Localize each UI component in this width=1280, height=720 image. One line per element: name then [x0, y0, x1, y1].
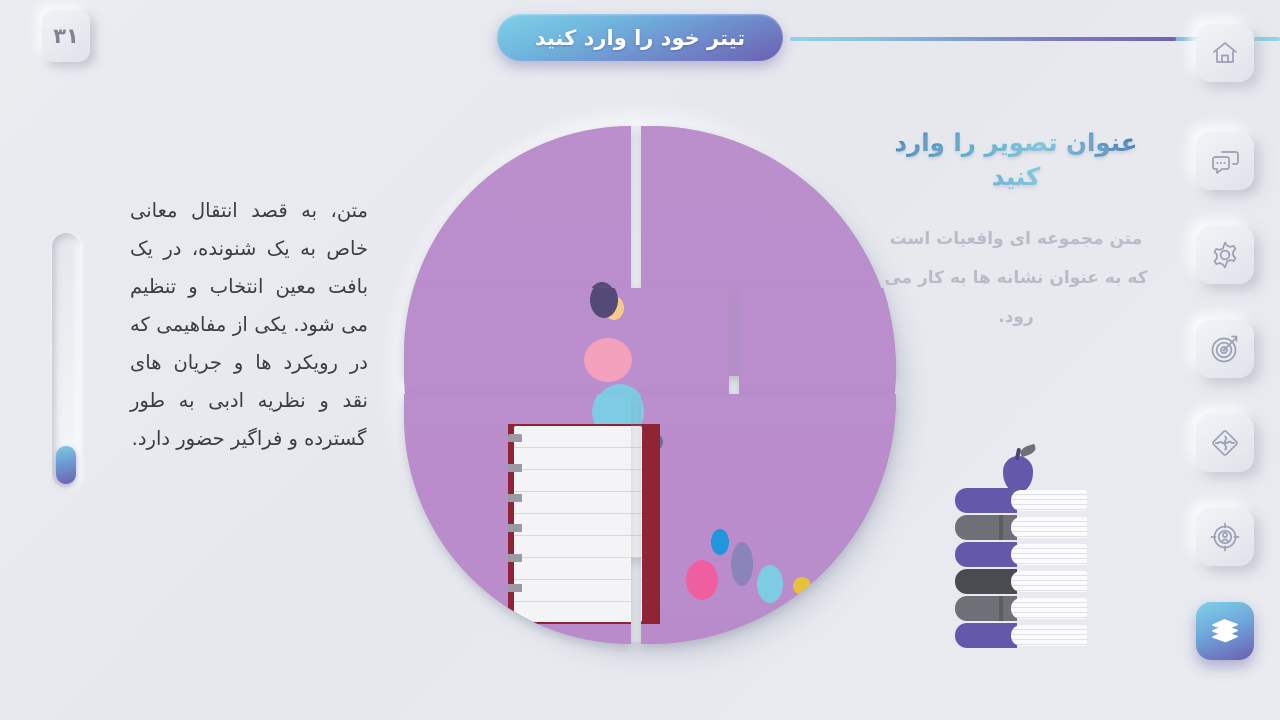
rail-button-target[interactable] — [1196, 320, 1254, 378]
icon-rail — [1188, 8, 1254, 696]
notebook-page — [641, 426, 642, 622]
book-item — [955, 515, 1087, 540]
book-item — [955, 623, 1087, 648]
image-caption-title: عنوان تصویر را وارد کنید — [880, 126, 1152, 194]
books-icon — [1208, 614, 1242, 648]
notebook-page — [514, 426, 631, 622]
notebook-rings — [508, 434, 522, 614]
slide-canvas: ۳۱ تیتر خود را وارد کنید متن، به قصد انت… — [0, 0, 1280, 720]
person-target-icon — [1209, 521, 1241, 553]
collage-tile-bottom-left — [404, 394, 631, 644]
book-item — [955, 488, 1087, 513]
puzzle-icon — [1208, 426, 1242, 460]
gear-icon — [1209, 239, 1241, 271]
page-number-label: ۳۱ — [53, 24, 79, 48]
book-item — [955, 569, 1087, 594]
page-number-badge: ۳۱ — [42, 10, 90, 62]
rail-button-chat[interactable] — [1196, 132, 1254, 190]
image-caption-body: متن مجموعه ای واقعیات است که به عنوان نش… — [880, 220, 1152, 337]
apple-icon — [1003, 456, 1033, 492]
target-arrow-icon — [1209, 333, 1241, 365]
book-item — [955, 596, 1087, 621]
rail-button-settings[interactable] — [1196, 226, 1254, 284]
rail-button-person-target[interactable] — [1196, 508, 1254, 566]
book-item — [955, 542, 1087, 567]
slide-title-label: تیتر خود را وارد کنید — [535, 26, 745, 50]
home-icon — [1209, 37, 1241, 69]
rail-button-puzzle[interactable] — [1196, 414, 1254, 472]
collage-tile-bottom-right — [641, 394, 896, 644]
header-rule-right — [790, 37, 1176, 41]
vertical-slider[interactable] — [52, 233, 80, 488]
chat-icon — [1209, 145, 1241, 177]
rail-button-books[interactable] — [1196, 602, 1254, 660]
book-stack-illustration — [955, 462, 1087, 637]
slider-thumb[interactable] — [56, 446, 76, 484]
circular-photo-collage — [390, 112, 910, 657]
slide-title-pill[interactable]: تیتر خود را وارد کنید — [497, 14, 783, 61]
right-text-column: عنوان تصویر را وارد کنید متن مجموعه ای و… — [880, 126, 1152, 337]
rail-button-home[interactable] — [1196, 24, 1254, 82]
left-body-text: متن، به قصد انتقال معانی خاص به یک شنوند… — [130, 192, 368, 458]
collage-photo — [641, 394, 896, 644]
